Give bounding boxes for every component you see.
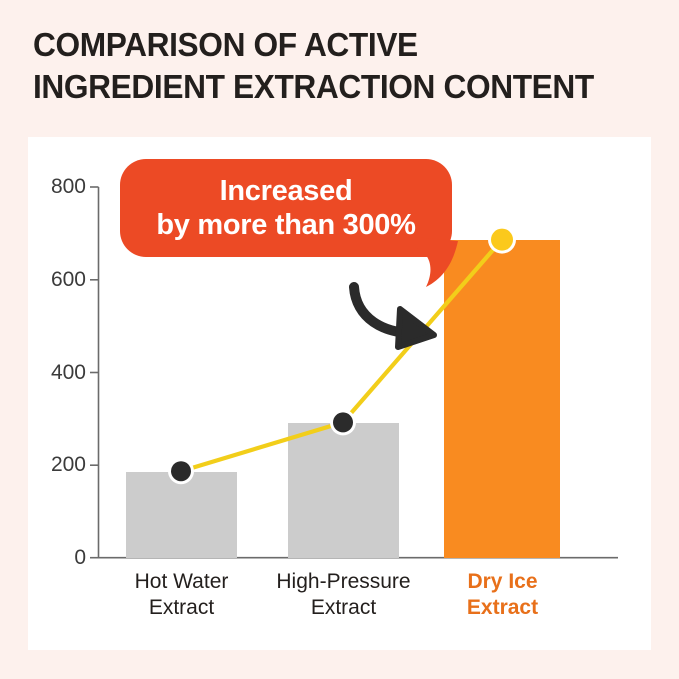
xtick-label-high-pressure-extract: High-Pressure Extract <box>256 569 431 621</box>
xtick-line-1: High-Pressure <box>256 569 431 595</box>
ytick-label: 200 <box>51 453 86 477</box>
chart-page: COMPARISON OF ACTIVE INGREDIENT EXTRACTI… <box>0 0 679 679</box>
ytick-label: 800 <box>51 175 86 199</box>
ytick-label: 400 <box>51 361 86 385</box>
page-title-line-2: INGREDIENT EXTRACTION CONTENT <box>33 66 638 108</box>
xtick-line-2: Extract <box>256 595 431 621</box>
callout-line-1: Increased <box>220 174 353 208</box>
xtick-label-dry-ice-extract: Dry Ice Extract <box>430 569 575 621</box>
bar-high-pressure-extract <box>288 423 399 558</box>
xtick-line-2: Extract <box>106 595 257 621</box>
callout-bubble-text: Increased by more than 300% <box>120 159 452 257</box>
xtick-line-1: Dry Ice <box>430 569 575 595</box>
plot-area: 800 600 400 200 0 <box>28 137 651 650</box>
bar-hot-water-extract <box>126 472 237 558</box>
callout-bubble: Increased by more than 300% <box>120 159 452 257</box>
xtick-label-hot-water-extract: Hot Water Extract <box>106 569 257 621</box>
callout-line-2: by more than 300% <box>156 208 415 242</box>
ytick-label: 0 <box>74 546 86 570</box>
page-title: COMPARISON OF ACTIVE INGREDIENT EXTRACTI… <box>33 24 663 108</box>
chart-card: 800 600 400 200 0 <box>28 137 651 650</box>
page-title-line-1: COMPARISON OF ACTIVE <box>33 24 638 66</box>
xtick-line-1: Hot Water <box>106 569 257 595</box>
xtick-line-2: Extract <box>430 595 575 621</box>
ytick-label: 600 <box>51 268 86 292</box>
